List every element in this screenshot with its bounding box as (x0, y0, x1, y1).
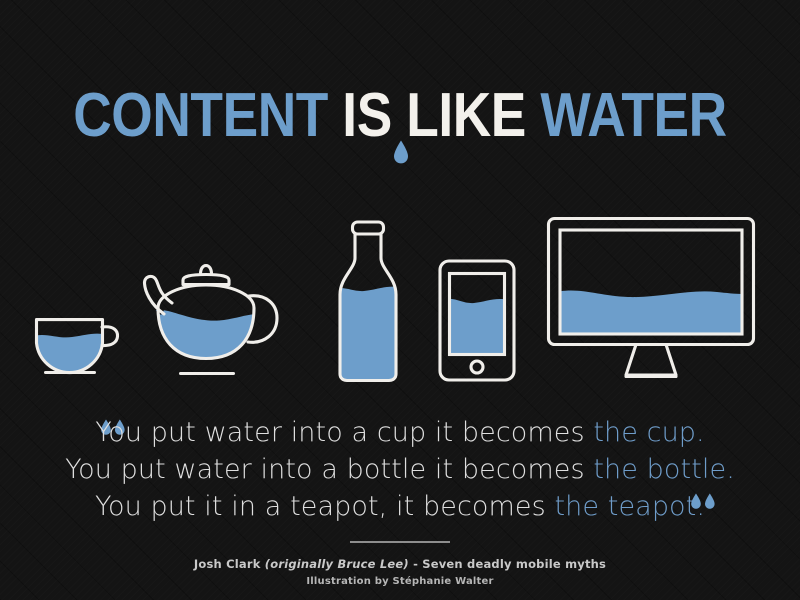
credit-illustration: Illustration by Stéphanie Walter (0, 573, 800, 590)
quote-line-3-plain: You put it in a teapot, it becomes (95, 491, 555, 522)
title-segment-content: CONTENT (73, 81, 328, 150)
quote-block: You put water into a cup it becomes the … (0, 414, 800, 525)
credit-author: Josh Clark (194, 557, 265, 571)
quote-line-2: You put water into a bottle it becomes t… (0, 451, 800, 488)
title-segment-is-like: IS LIKE (328, 81, 540, 150)
desktop-monitor-icon (542, 213, 760, 385)
water-droplet-icon (393, 140, 409, 164)
credit-attribution: Josh Clark (originally Bruce Lee) - Seve… (0, 556, 800, 573)
credits-block: Josh Clark (originally Bruce Lee) - Seve… (0, 556, 800, 590)
teapot-icon (134, 262, 299, 385)
title-segment-water: WATER (540, 81, 726, 150)
quote-line-1: You put water into a cup it becomes the … (0, 414, 800, 451)
credit-author-note: (originally Bruce Lee) (265, 557, 409, 571)
divider-rule (350, 541, 450, 543)
credit-source: - Seven deadly mobile myths (409, 557, 606, 571)
quote-line-1-plain: You put water into a cup it becomes (95, 417, 593, 448)
quote-line-2-accent: the bottle. (593, 454, 735, 485)
smartphone-icon (432, 256, 522, 385)
teacup-icon (30, 305, 130, 385)
slide-canvas: CONTENT IS LIKE WATER (0, 0, 800, 600)
quote-line-3: You put it in a teapot, it becomes the t… (0, 488, 800, 525)
quote-line-3-accent: the teapot. (554, 491, 705, 522)
quote-line-1-accent: the cup. (593, 417, 704, 448)
page-title: CONTENT IS LIKE WATER (56, 84, 744, 148)
milk-bottle-icon (322, 216, 414, 385)
illustration-row (0, 210, 800, 385)
quote-line-2-plain: You put water into a bottle it becomes (65, 454, 593, 485)
